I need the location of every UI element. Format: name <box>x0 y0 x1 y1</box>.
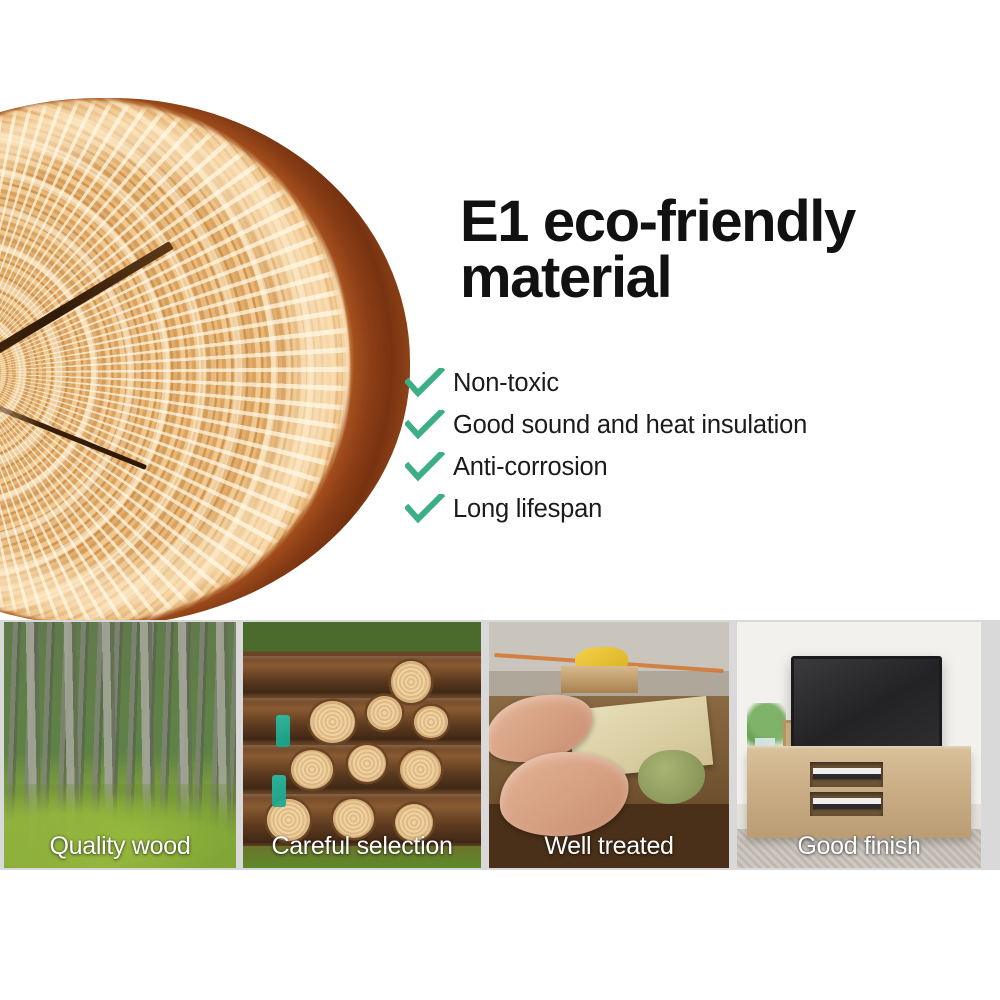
panel-caption: Well treated <box>489 832 729 861</box>
feature-item: Anti-corrosion <box>405 446 965 488</box>
process-panel-well-treated: Well treated <box>489 622 729 868</box>
feature-item: Non-toxic <box>405 362 965 404</box>
process-panel-good-finish: Good finish <box>737 622 981 868</box>
log-end-cut <box>348 745 386 782</box>
feature-item: Good sound and heat insulation <box>405 404 965 446</box>
feature-label: Good sound and heat insulation <box>453 411 807 440</box>
page-title: E1 eco-friendly material <box>460 194 960 305</box>
av-device-lower <box>813 798 881 809</box>
panel-caption: Good finish <box>737 832 981 861</box>
log-end-cut <box>310 701 355 743</box>
process-panel-quality-wood: Quality wood <box>4 622 236 868</box>
check-mark-icon <box>405 452 453 482</box>
log-bark <box>0 98 410 626</box>
product-feature-infographic: E1 eco-friendly material Non-toxic Good … <box>0 0 1000 1000</box>
panel-caption: Quality wood <box>4 832 236 861</box>
headline-line-2: material <box>460 250 960 306</box>
feature-label: Anti-corrosion <box>453 453 608 482</box>
feature-label: Long lifespan <box>453 495 602 524</box>
paint-mark <box>276 715 290 747</box>
paint-mark <box>272 775 286 807</box>
television <box>791 656 942 749</box>
av-device-upper <box>813 768 881 779</box>
process-photo-strip: Quality wood Careful selection <box>0 620 1000 870</box>
check-mark-icon <box>405 494 453 524</box>
wood-blocks <box>561 666 638 693</box>
tree-cross-section-image <box>0 98 410 626</box>
panel-caption: Careful selection <box>243 832 481 861</box>
feature-item: Long lifespan <box>405 488 965 530</box>
feature-label: Non-toxic <box>453 369 559 398</box>
log-end-cut <box>400 750 440 789</box>
medullary-rays <box>0 98 410 626</box>
log-row <box>243 656 481 693</box>
log-end-cut <box>414 706 447 738</box>
log-end-cut <box>391 661 431 703</box>
feature-list: Non-toxic Good sound and heat insulation… <box>405 362 965 530</box>
process-panel-careful-selection: Careful selection <box>243 622 481 868</box>
check-mark-icon <box>405 368 453 398</box>
check-mark-icon <box>405 410 453 440</box>
